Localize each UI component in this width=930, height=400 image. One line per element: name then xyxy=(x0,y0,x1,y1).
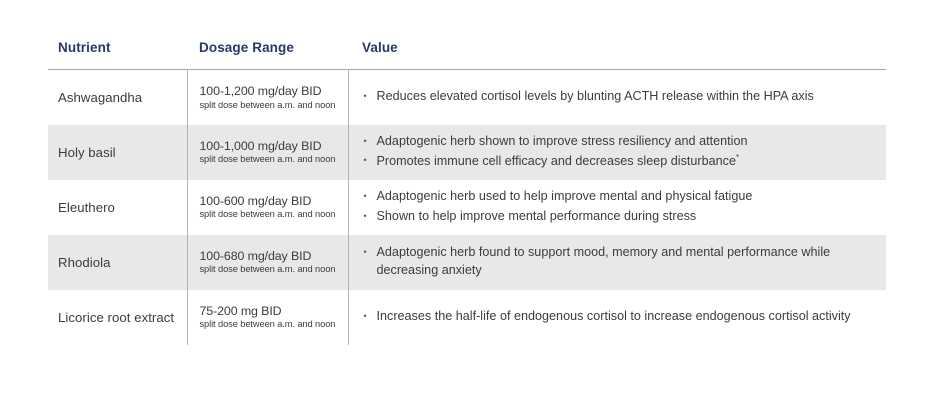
value-bullet-text: Adaptogenic herb used to help improve me… xyxy=(377,189,753,203)
dosage-instruction: split dose between a.m. and noon xyxy=(200,154,348,165)
table-row: Holy basil100-1,000 mg/day BIDsplit dose… xyxy=(48,125,886,180)
dosage-instruction: split dose between a.m. and noon xyxy=(200,100,348,111)
value-cell: Reduces elevated cortisol levels by blun… xyxy=(348,70,886,125)
value-cell: Increases the half-life of endogenous co… xyxy=(348,290,886,345)
footnote-marker: * xyxy=(736,153,739,162)
table-row: Eleuthero100-600 mg/day BIDsplit dose be… xyxy=(48,180,886,235)
value-bullet-item: Reduces elevated cortisol levels by blun… xyxy=(363,88,879,106)
value-bullet-list: Adaptogenic herb shown to improve stress… xyxy=(363,133,879,172)
table-row: Rhodiola100-680 mg/day BIDsplit dose bet… xyxy=(48,235,886,290)
value-bullet-item: Adaptogenic herb used to help improve me… xyxy=(363,188,879,206)
dosage-cell: 100-600 mg/day BIDsplit dose between a.m… xyxy=(187,180,348,235)
dosage-cell: 100-1,000 mg/day BIDsplit dose between a… xyxy=(187,125,348,180)
value-cell: Adaptogenic herb used to help improve me… xyxy=(348,180,886,235)
value-bullet-list: Increases the half-life of endogenous co… xyxy=(363,308,879,326)
value-bullet-item: Promotes immune cell efficacy and decrea… xyxy=(363,152,879,171)
dosage-instruction: split dose between a.m. and noon xyxy=(200,209,348,220)
value-cell: Adaptogenic herb found to support mood, … xyxy=(348,235,886,290)
value-bullet-text: Promotes immune cell efficacy and decrea… xyxy=(377,155,736,169)
dosage-amount: 100-680 mg/day BID xyxy=(200,249,348,264)
value-bullet-text: Reduces elevated cortisol levels by blun… xyxy=(377,89,814,103)
dosage-amount: 100-1,000 mg/day BID xyxy=(200,139,348,154)
nutrient-cell: Licorice root extract xyxy=(48,290,187,345)
dosage-amount: 100-600 mg/day BID xyxy=(200,194,348,209)
nutrient-cell: Eleuthero xyxy=(48,180,187,235)
nutrient-cell: Ashwagandha xyxy=(48,70,187,125)
value-bullet-text: Shown to help improve mental performance… xyxy=(377,209,697,223)
value-bullet-item: Adaptogenic herb shown to improve stress… xyxy=(363,133,879,151)
value-bullet-text: Adaptogenic herb shown to improve stress… xyxy=(377,134,748,148)
nutrient-cell: Holy basil xyxy=(48,125,187,180)
dosage-cell: 75-200 mg BIDsplit dose between a.m. and… xyxy=(187,290,348,345)
nutrient-table-container: Nutrient Dosage Range Value Ashwagandha1… xyxy=(48,40,886,345)
value-bullet-text: Adaptogenic herb found to support mood, … xyxy=(377,245,831,277)
table-header: Nutrient Dosage Range Value xyxy=(48,40,886,70)
dosage-amount: 100-1,200 mg/day BID xyxy=(200,84,348,99)
value-bullet-text: Increases the half-life of endogenous co… xyxy=(377,309,851,323)
value-bullet-list: Adaptogenic herb used to help improve me… xyxy=(363,188,879,226)
table-row: Ashwagandha100-1,200 mg/day BIDsplit dos… xyxy=(48,70,886,125)
value-cell: Adaptogenic herb shown to improve stress… xyxy=(348,125,886,180)
column-header-nutrient: Nutrient xyxy=(48,40,187,70)
column-header-value: Value xyxy=(348,40,886,70)
nutrient-cell: Rhodiola xyxy=(48,235,187,290)
value-bullet-list: Adaptogenic herb found to support mood, … xyxy=(363,244,879,280)
value-bullet-item: Shown to help improve mental performance… xyxy=(363,208,879,226)
value-bullet-list: Reduces elevated cortisol levels by blun… xyxy=(363,88,879,106)
table-header-row: Nutrient Dosage Range Value xyxy=(48,40,886,70)
dosage-cell: 100-680 mg/day BIDsplit dose between a.m… xyxy=(187,235,348,290)
column-header-dosage-range: Dosage Range xyxy=(187,40,348,70)
table-row: Licorice root extract75-200 mg BIDsplit … xyxy=(48,290,886,345)
dosage-instruction: split dose between a.m. and noon xyxy=(200,264,348,275)
table-body: Ashwagandha100-1,200 mg/day BIDsplit dos… xyxy=(48,70,886,345)
value-bullet-item: Adaptogenic herb found to support mood, … xyxy=(363,244,879,280)
dosage-amount: 75-200 mg BID xyxy=(200,304,348,319)
dosage-cell: 100-1,200 mg/day BIDsplit dose between a… xyxy=(187,70,348,125)
value-bullet-item: Increases the half-life of endogenous co… xyxy=(363,308,879,326)
dosage-instruction: split dose between a.m. and noon xyxy=(200,319,348,330)
nutrient-dosage-value-table: Nutrient Dosage Range Value Ashwagandha1… xyxy=(48,40,886,345)
